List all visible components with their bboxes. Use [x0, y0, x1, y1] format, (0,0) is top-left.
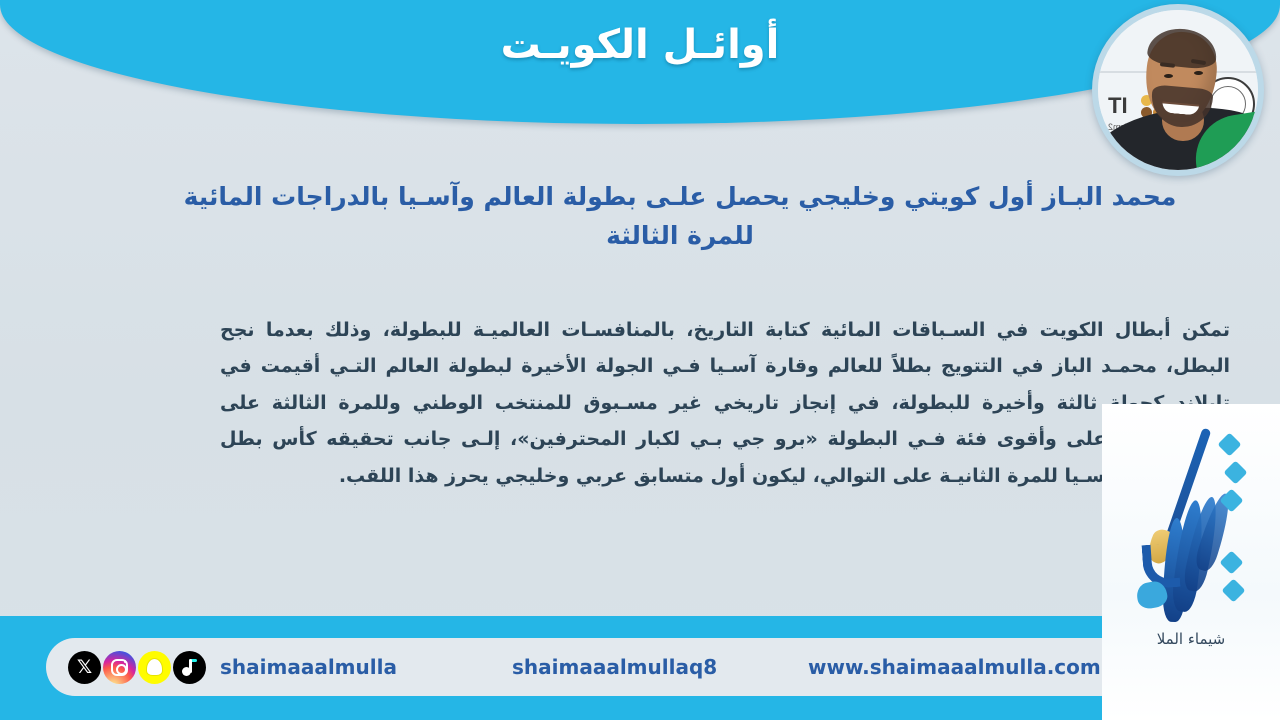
portrait-avatar-frame: IT Srm2 [1092, 4, 1264, 176]
website-link[interactable]: www.shaimaaalmulla.com [808, 655, 1101, 679]
footer-bar: 𝕏 shaimaaalmulla shaimaaalmullaq8 www.sh… [0, 616, 1280, 720]
article-headline: محمد البـاز أول كويتي وخليجي يحصل علـى ب… [160, 178, 1200, 256]
article-body: تمكن أبطال الكويت في السـباقات المائية ك… [220, 312, 1230, 494]
secondary-handle[interactable]: shaimaaalmullaq8 [512, 655, 717, 679]
logo-diamond-dot [1219, 550, 1243, 574]
footer-contact-pill: 𝕏 shaimaaalmulla shaimaaalmullaq8 www.sh… [46, 638, 1186, 696]
snapchat-icon[interactable] [138, 651, 171, 684]
calligraphy-pen-logo-icon [1131, 426, 1251, 626]
logo-diamond-dot [1217, 432, 1241, 456]
instagram-icon[interactable] [103, 651, 136, 684]
poster-canvas: أوائـل الكويـت IT Srm2 [0, 0, 1280, 720]
backdrop-logo-text: IT [1108, 93, 1128, 119]
logo-diamond-dot [1223, 460, 1247, 484]
brand-logo-panel: شيماء الملا [1102, 404, 1280, 720]
social-icon-group: 𝕏 [68, 651, 206, 684]
logo-diamond-dot [1221, 578, 1245, 602]
social-handle[interactable]: shaimaaalmulla [220, 655, 397, 679]
header-banner: أوائـل الكويـت [0, 0, 1280, 124]
tiktok-icon[interactable] [173, 651, 206, 684]
x-twitter-icon[interactable]: 𝕏 [68, 651, 101, 684]
avatar: IT Srm2 [1098, 10, 1258, 170]
portrait-eye [1164, 74, 1173, 78]
page-title: أوائـل الكويـت [0, 22, 1280, 68]
brand-name: شيماء الملا [1157, 630, 1226, 648]
portrait-eye [1194, 71, 1203, 75]
